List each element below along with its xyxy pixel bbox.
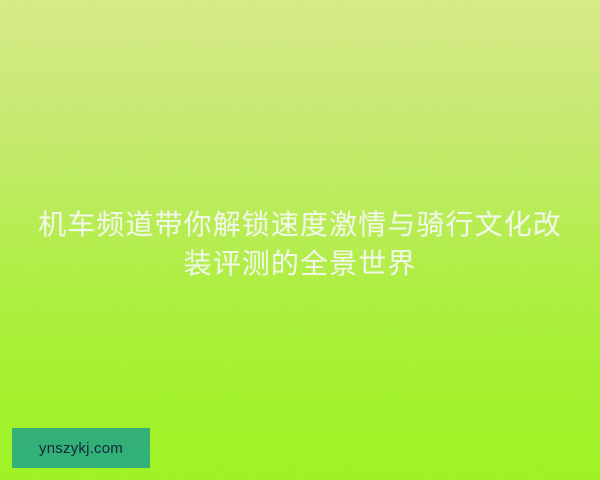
title-line-1: 机车频道带你解锁速度激情与骑行文化改 (14, 205, 586, 244)
title-line-2: 装评测的全景世界 (14, 244, 586, 283)
poster-title: 机车频道带你解锁速度激情与骑行文化改 装评测的全景世界 (0, 205, 600, 283)
watermark-domain-text: ynszykj.com (39, 441, 123, 456)
watermark-badge: ynszykj.com (12, 428, 150, 468)
poster-canvas: 机车频道带你解锁速度激情与骑行文化改 装评测的全景世界 ynszykj.com (0, 0, 600, 480)
